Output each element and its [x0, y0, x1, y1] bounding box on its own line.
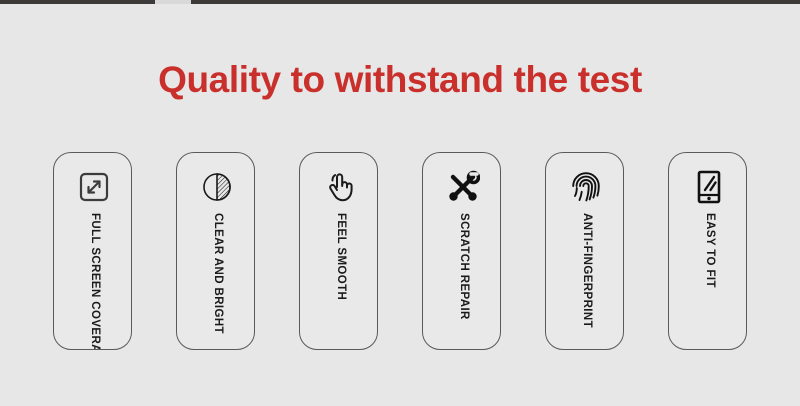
feature-label-container: CLEAR AND BRIGHT [177, 213, 256, 349]
feature-label-container: FULL SCREEN COVERAGE [54, 213, 133, 349]
feature-label-container: EASY TO FIT [669, 213, 748, 349]
feature-card-label: EASY TO FIT [703, 213, 715, 288]
feature-card-scratch-repair[interactable]: SCRATCH REPAIR [422, 152, 501, 350]
fingerprint-icon [546, 164, 625, 210]
feature-card-label: FULL SCREEN COVERAGE [88, 213, 100, 349]
hand-tap-icon [300, 164, 379, 210]
phone-screen-icon [669, 164, 748, 210]
feature-card-label: CLEAR AND BRIGHT [211, 213, 223, 334]
feature-card-label: ANTI-FINGERPRINT [580, 213, 592, 328]
contrast-circle-icon [177, 164, 256, 210]
promo-banner: Quality to withstand the test FULL SCREE… [0, 4, 800, 406]
feature-card-list: FULL SCREEN COVERAGE CLEAR AND BRIGHT [53, 152, 747, 352]
feature-card-anti-fingerprint[interactable]: ANTI-FINGERPRINT [545, 152, 624, 350]
feature-card-easy-to-fit[interactable]: EASY TO FIT [668, 152, 747, 350]
feature-card-label: FEEL SMOOTH [334, 213, 346, 300]
feature-card-feel-smooth[interactable]: FEEL SMOOTH [299, 152, 378, 350]
wrench-screwdriver-icon [423, 164, 502, 210]
expand-arrows-icon [54, 164, 133, 210]
page-title: Quality to withstand the test [0, 61, 800, 98]
feature-card-label: SCRATCH REPAIR [457, 213, 469, 320]
feature-card-clear-and-bright[interactable]: CLEAR AND BRIGHT [176, 152, 255, 350]
feature-label-container: FEEL SMOOTH [300, 213, 379, 349]
feature-card-full-screen-coverage[interactable]: FULL SCREEN COVERAGE [53, 152, 132, 350]
feature-label-container: ANTI-FINGERPRINT [546, 213, 625, 349]
feature-label-container: SCRATCH REPAIR [423, 213, 502, 349]
